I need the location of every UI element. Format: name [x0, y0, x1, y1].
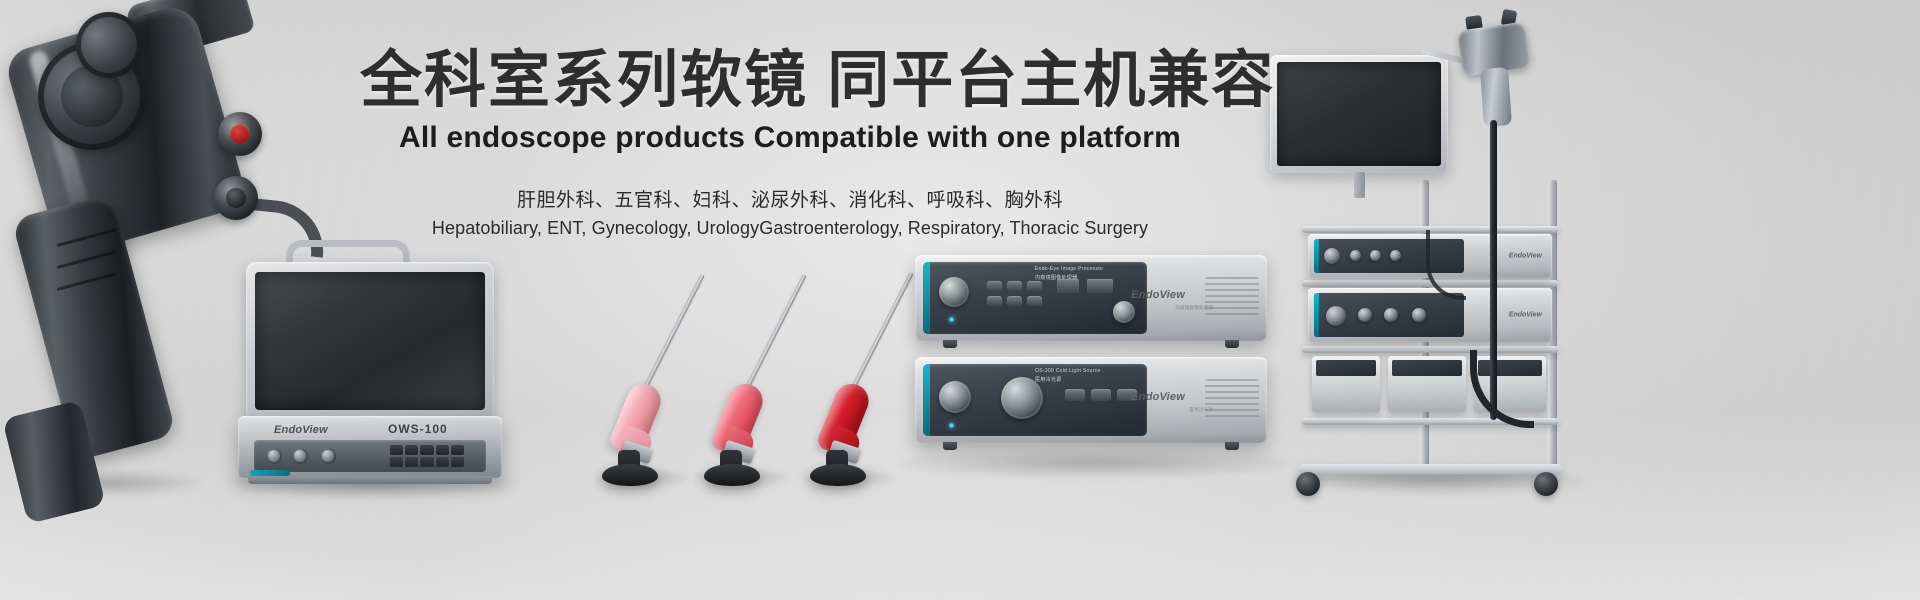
processor-foot	[943, 340, 957, 348]
endoscope-dark-button	[214, 176, 258, 220]
workstation-port	[292, 448, 308, 464]
light-source-title-cn: 医用冷光源	[1035, 377, 1062, 385]
light-source-button	[1065, 389, 1085, 401]
cart-monitor-neck	[1354, 172, 1365, 198]
light-source-teal-accent	[923, 364, 930, 436]
cart-accessory-screen	[1316, 360, 1376, 376]
processor-port-block	[1087, 279, 1113, 293]
workstation-bezel	[246, 262, 494, 422]
cart-unit-knob	[1370, 250, 1381, 261]
processor-button	[1007, 281, 1022, 291]
workstation-brand-label: EndoView	[274, 424, 328, 436]
cart-unit-teal-accent	[1314, 293, 1319, 337]
cart-unit-knob	[1326, 306, 1346, 326]
processor-button	[1027, 281, 1042, 291]
cart-scope-tube-curve	[1470, 350, 1534, 428]
cart-caster	[1534, 472, 1558, 496]
processor-brand-label: EndoView	[1131, 289, 1185, 301]
image-processor-unit: Endo-Eye Image Processor 内窥镜图像处理器 EndoVi…	[915, 255, 1267, 341]
cart-monitor-frame	[1270, 55, 1448, 173]
light-source-title-en: OS-300 Cold Light Source	[1035, 368, 1101, 376]
light-source-output-port	[939, 381, 971, 413]
workstation-keypad	[390, 445, 464, 467]
cart-unit-knob	[1324, 248, 1340, 264]
workstation-model-label: OWS-100	[388, 422, 448, 436]
processor-stack-product: Endo-Eye Image Processor 内窥镜图像处理器 EndoVi…	[915, 255, 1275, 455]
processor-button	[987, 296, 1002, 306]
workstation-teal-accent	[250, 470, 290, 476]
cart-unit-knob	[1384, 308, 1398, 322]
cart-scope-neck	[1480, 67, 1512, 127]
light-source-foot	[943, 442, 957, 450]
departments-chinese: 肝胆外科、五官科、妇科、泌尿外科、消化科、呼吸科、胸外科	[360, 185, 1220, 212]
light-source-foot	[1225, 442, 1239, 450]
workstation-foot	[248, 476, 492, 484]
processor-port-block	[1057, 279, 1079, 293]
subheadline-english: All endoscope products Compatible with o…	[360, 121, 1220, 155]
workstation-port	[320, 448, 336, 464]
workstation-port	[266, 448, 282, 464]
banner-text-block: 全科室系列软镜 同平台主机兼容 All endoscope products C…	[360, 46, 1220, 239]
processor-title-en: Endo-Eye Image Processor	[1035, 266, 1103, 274]
cart-caster	[1296, 472, 1320, 496]
departments-english: Hepatobiliary, ENT, Gynecology, UrologyG…	[360, 218, 1220, 239]
processor-status-led	[949, 317, 954, 322]
cart-monitor-screen	[1277, 62, 1441, 166]
light-source-brand-label: EndoView	[1131, 391, 1185, 403]
processor-button	[1007, 296, 1022, 306]
cart-base	[1298, 464, 1562, 474]
workstation-product: EndoView OWS-100	[238, 248, 498, 478]
cart-unit-knob	[1390, 250, 1401, 261]
cart-unit-knob	[1358, 308, 1372, 322]
cart-unit-knob	[1412, 308, 1426, 322]
marketing-banner: 全科室系列软镜 同平台主机兼容 All endoscope products C…	[0, 0, 1920, 600]
cart-unit-knob	[1350, 250, 1361, 261]
light-source-vents	[1205, 379, 1259, 419]
laparoscopic-instrument-3	[718, 256, 878, 478]
processor-teal-accent	[923, 262, 930, 334]
workstation-screen	[255, 272, 485, 410]
cart-mounted-endoscope	[1430, 20, 1610, 450]
processor-side-knob	[1113, 301, 1135, 323]
headline-chinese: 全科室系列软镜 同平台主机兼容	[360, 46, 1220, 115]
processor-main-knob	[939, 277, 969, 307]
instrument-base	[810, 464, 866, 486]
processor-vents	[1205, 277, 1259, 317]
light-source-unit: OS-300 Cold Light Source 医用冷光源 EndoView …	[915, 357, 1267, 443]
cart-accessory-box-1	[1312, 356, 1380, 412]
endoscope-red-button	[218, 112, 262, 156]
processor-button	[987, 281, 1002, 291]
processor-foot	[1225, 340, 1239, 348]
processor-button	[1027, 296, 1042, 306]
light-source-button	[1091, 389, 1111, 401]
cart-unit-teal-accent	[1314, 239, 1319, 273]
light-source-brightness-dial	[1001, 377, 1043, 419]
light-source-status-led	[949, 423, 954, 428]
